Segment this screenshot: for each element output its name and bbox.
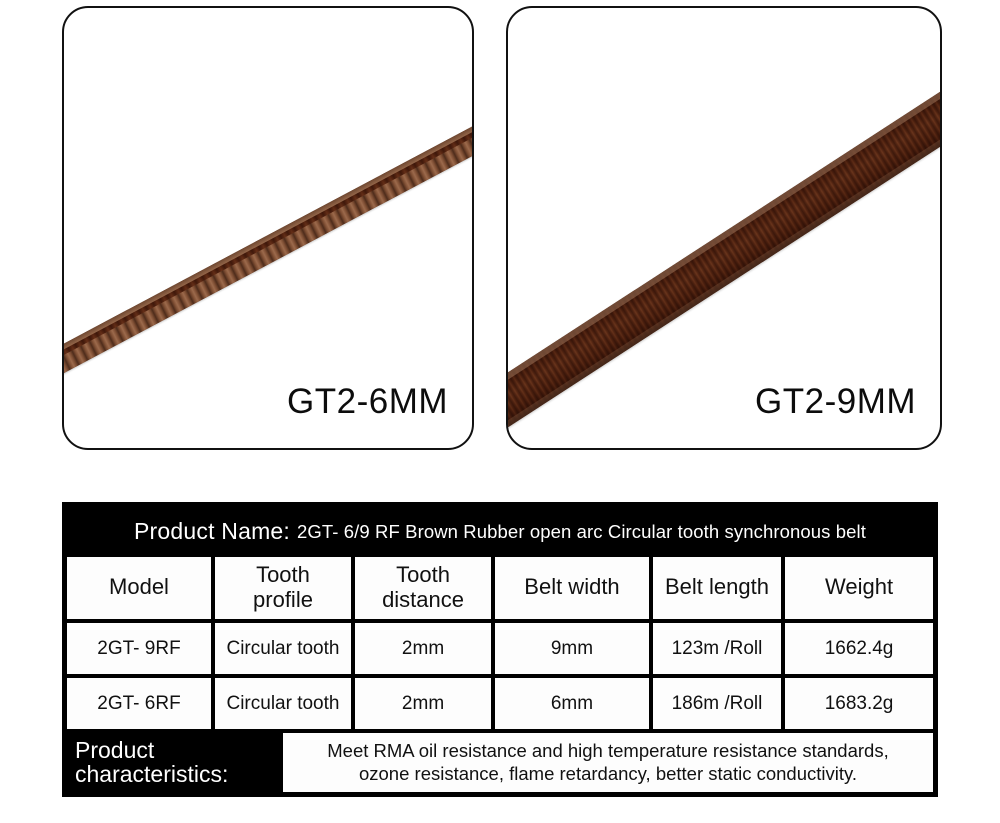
cell-belt-length: 123m /Roll <box>653 623 781 674</box>
product-name-row: Product Name: 2GT- 6/9 RF Brown Rubber o… <box>67 507 933 557</box>
header-tooth-distance-line1: Tooth <box>382 563 464 588</box>
photo-caption-9mm: GT2-9MM <box>755 382 916 422</box>
product-name-label: Product Name: <box>134 518 290 545</box>
cell-tooth-distance: 2mm <box>355 623 491 674</box>
cell-belt-length: 186m /Roll <box>653 678 781 729</box>
table-header-row: Model Tooth profile Tooth distance Belt … <box>67 557 933 619</box>
characteristics-text: Meet RMA oil resistance and high tempera… <box>283 733 933 792</box>
cell-weight: 1683.2g <box>785 678 933 729</box>
product-photo-panel-9mm: GT2-9MM <box>506 6 942 450</box>
cell-belt-width: 9mm <box>495 623 649 674</box>
photo-caption-6mm: GT2-6MM <box>287 382 448 422</box>
header-tooth-profile: Tooth profile <box>215 557 351 619</box>
specification-table: Product Name: 2GT- 6/9 RF Brown Rubber o… <box>62 502 938 797</box>
header-tooth-profile-line2: profile <box>253 588 313 613</box>
characteristics-text-line1: Meet RMA oil resistance and high tempera… <box>327 739 888 762</box>
characteristics-label: Product characteristics: <box>67 733 279 792</box>
cell-model: 2GT- 6RF <box>67 678 211 729</box>
header-belt-length: Belt length <box>653 557 781 619</box>
cell-tooth-profile: Circular tooth <box>215 678 351 729</box>
cell-belt-width: 6mm <box>495 678 649 729</box>
belt-backing-edge <box>64 46 472 407</box>
table-row: 2GT- 9RF Circular tooth 2mm 9mm 123m /Ro… <box>67 623 933 674</box>
table-row: 2GT- 6RF Circular tooth 2mm 6mm 186m /Ro… <box>67 678 933 729</box>
cell-tooth-distance: 2mm <box>355 678 491 729</box>
cell-model: 2GT- 9RF <box>67 623 211 674</box>
product-photo-panel-6mm: GT2-6MM <box>62 6 474 450</box>
cell-tooth-profile: Circular tooth <box>215 623 351 674</box>
header-tooth-distance: Tooth distance <box>355 557 491 619</box>
product-characteristics-row: Product characteristics: Meet RMA oil re… <box>67 733 933 792</box>
header-tooth-distance-line2: distance <box>382 588 464 613</box>
timing-belt-6mm-graphic <box>64 46 472 426</box>
characteristics-label-line2: characteristics: <box>75 762 228 787</box>
characteristics-label-line1: Product <box>75 738 154 763</box>
header-tooth-profile-line1: Tooth <box>253 563 313 588</box>
cell-weight: 1662.4g <box>785 623 933 674</box>
characteristics-text-line2: ozone resistance, flame retardancy, bett… <box>359 762 857 785</box>
product-name-value: 2GT- 6/9 RF Brown Rubber open arc Circul… <box>297 521 866 543</box>
header-weight: Weight <box>785 557 933 619</box>
header-model: Model <box>67 557 211 619</box>
header-belt-width: Belt width <box>495 557 649 619</box>
